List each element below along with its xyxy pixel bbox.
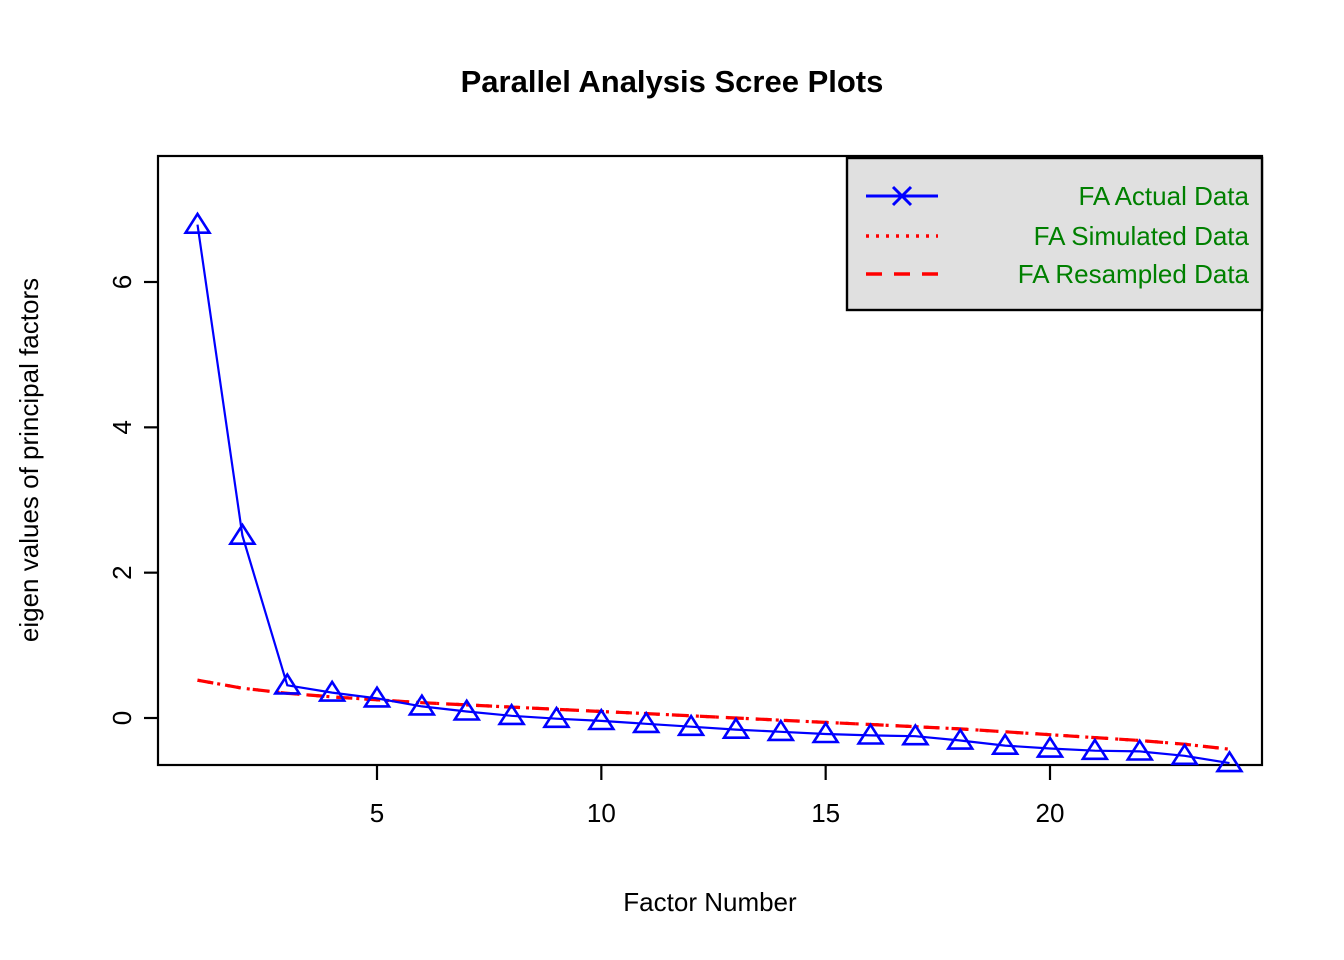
y-tick-label: 0 bbox=[107, 711, 137, 725]
legend-label-0: FA Actual Data bbox=[1078, 181, 1249, 211]
x-tick-label: 10 bbox=[587, 798, 616, 828]
x-axis-title: Factor Number bbox=[623, 887, 797, 917]
scree-plot-page: Parallel Analysis Scree Plots 0246 51015… bbox=[0, 0, 1344, 960]
x-tick-label: 20 bbox=[1036, 798, 1065, 828]
y-axis-title: eigen values of principal factors bbox=[14, 278, 44, 642]
legend-label-2: FA Resampled Data bbox=[1018, 259, 1250, 289]
y-tick-label: 4 bbox=[107, 420, 137, 434]
y-tick-label: 2 bbox=[107, 565, 137, 579]
x-tick-label: 15 bbox=[811, 798, 840, 828]
parallel-analysis-scree-plot: Parallel Analysis Scree Plots 0246 51015… bbox=[0, 0, 1344, 960]
legend[interactable]: FA Actual DataFA Simulated DataFA Resamp… bbox=[847, 158, 1262, 310]
y-tick-label: 6 bbox=[107, 275, 137, 289]
page-title: Parallel Analysis Scree Plots bbox=[461, 64, 884, 99]
x-tick-label: 5 bbox=[370, 798, 384, 828]
legend-label-1: FA Simulated Data bbox=[1034, 221, 1250, 251]
plot-background bbox=[0, 0, 1344, 960]
